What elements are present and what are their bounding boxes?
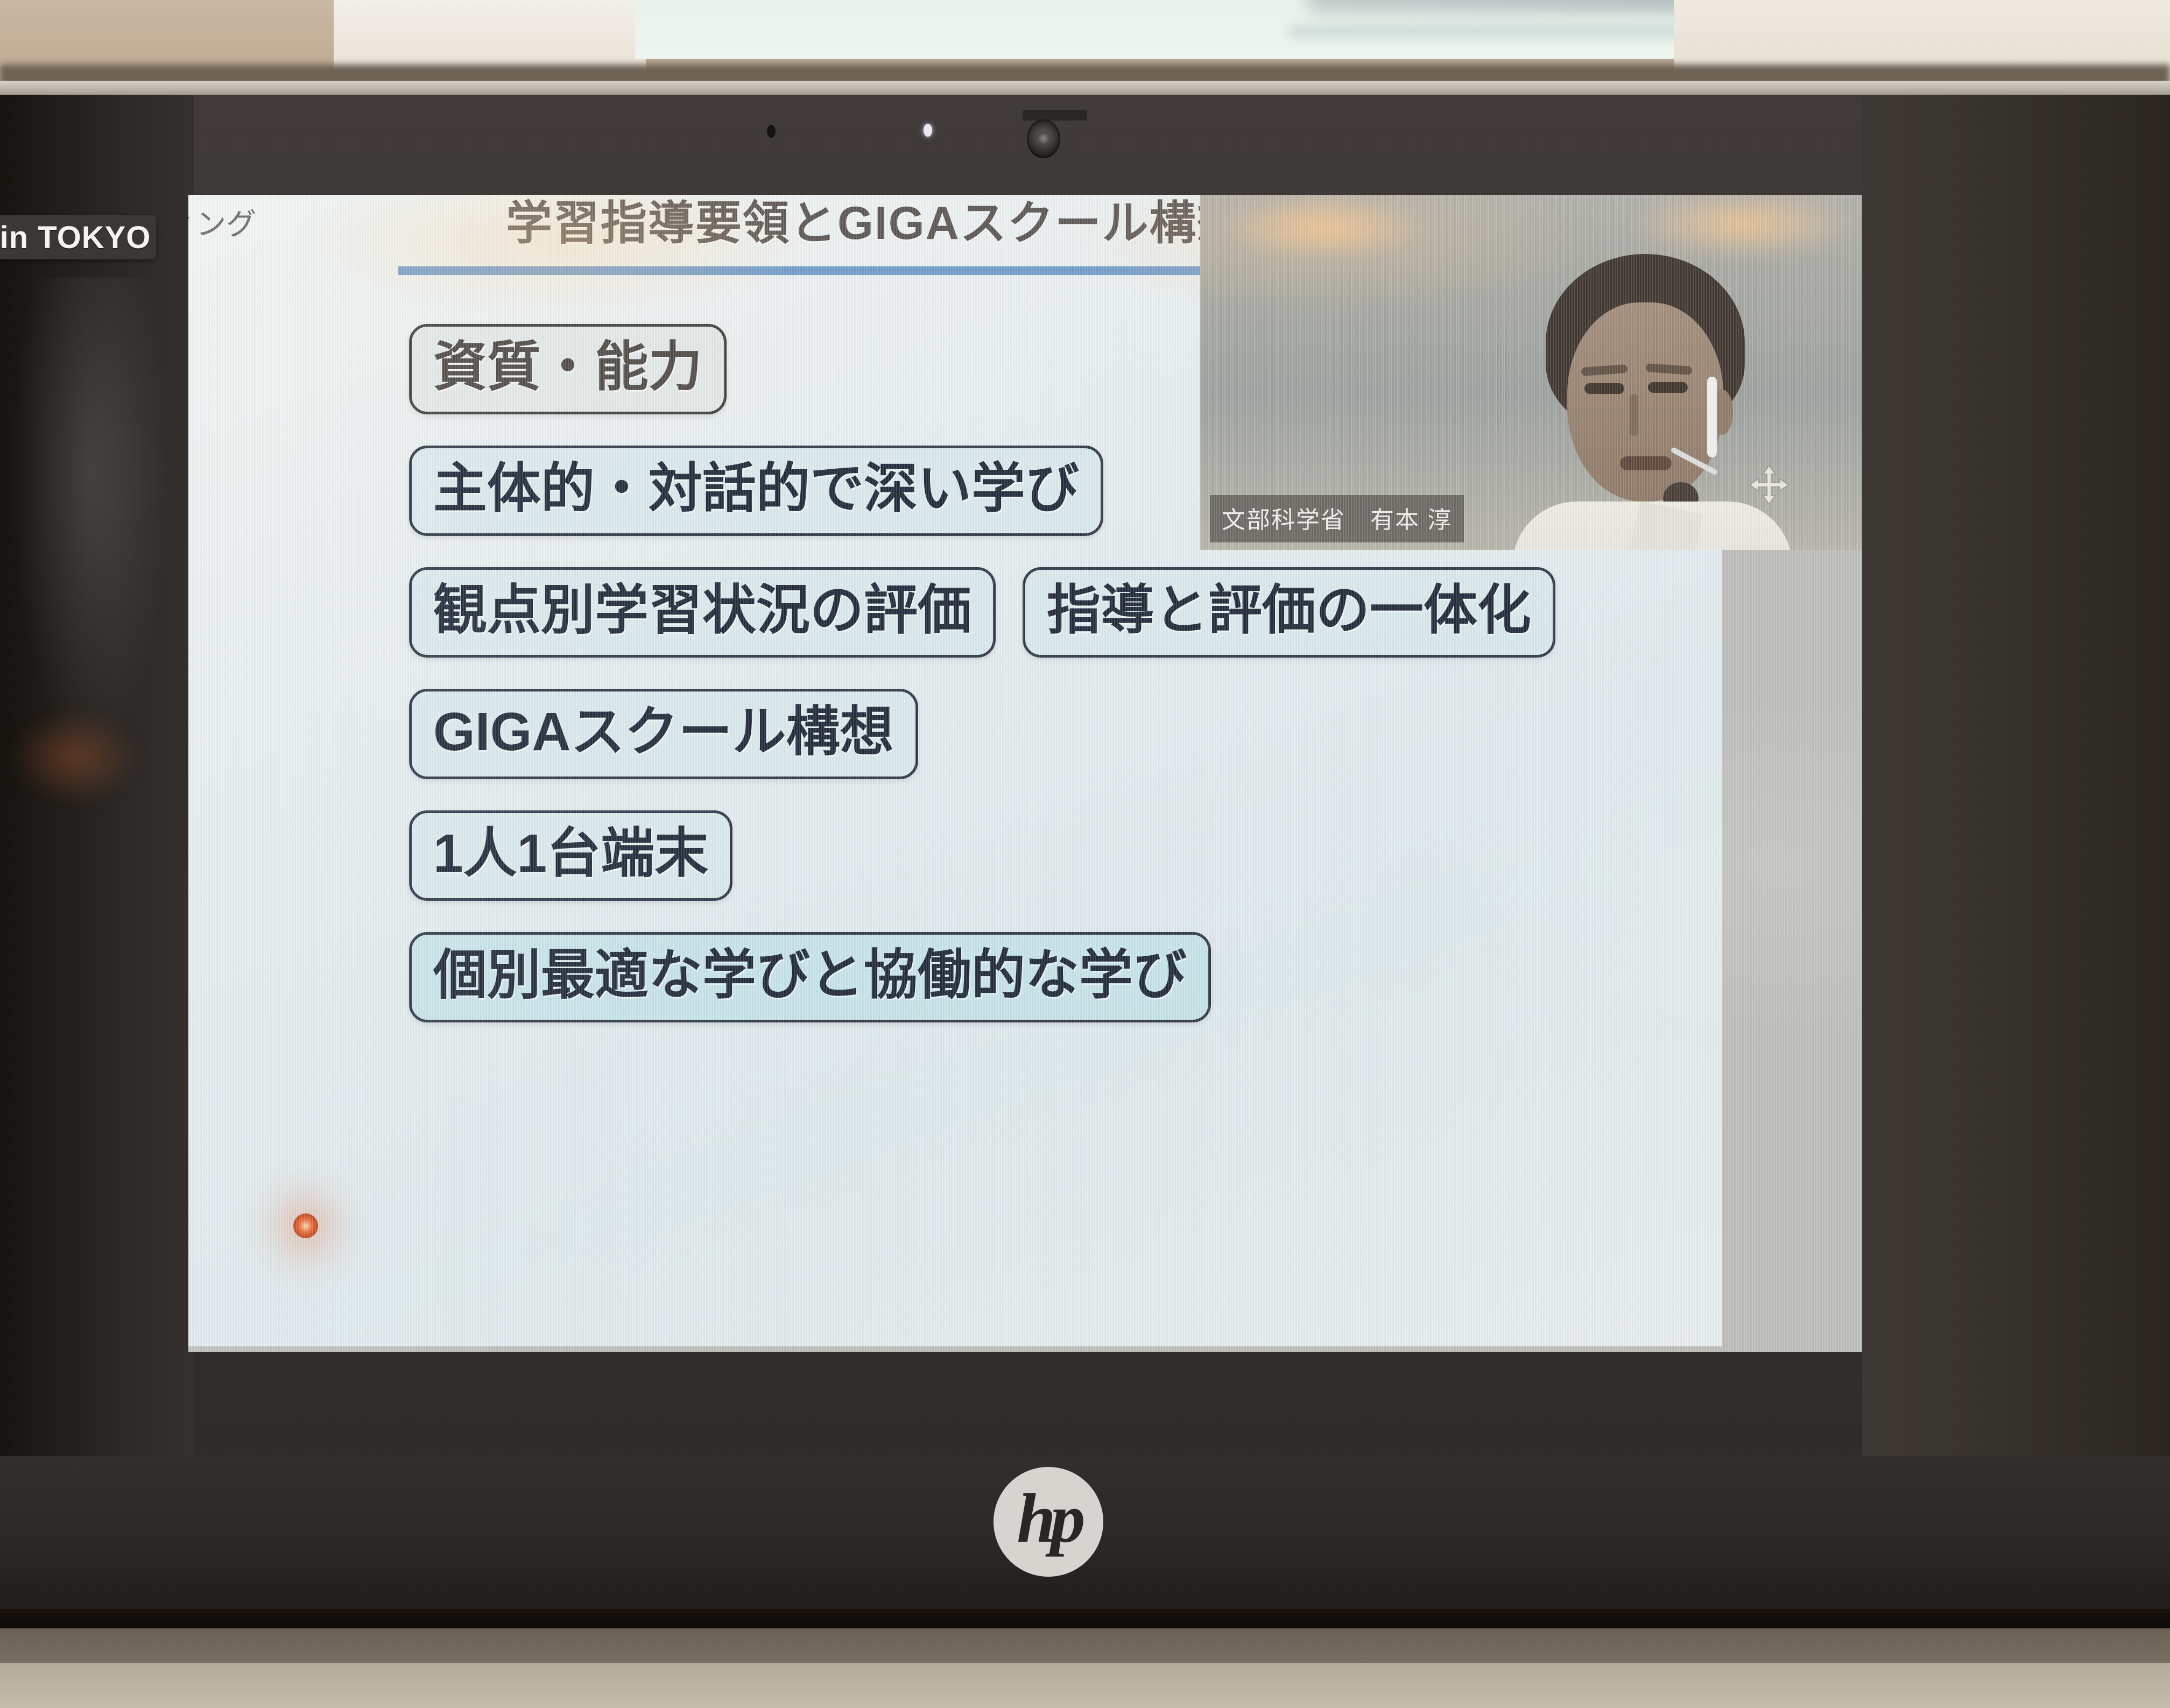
slide-box-giga-school[interactable]: GIGAスクール構想 xyxy=(409,689,918,779)
video-ceiling-light-right xyxy=(1631,195,1857,259)
bezel-right-shading xyxy=(1862,95,2170,1456)
avatar-eye-left xyxy=(1584,383,1624,394)
webcam-indicator-led xyxy=(924,124,932,137)
desk-front-edge xyxy=(0,1663,2170,1708)
avatar-face xyxy=(1567,302,1723,502)
video-ceiling-light-left xyxy=(1222,195,1426,259)
avatar-nose xyxy=(1630,394,1638,436)
laptop-sticker: in TOKYO xyxy=(0,215,156,259)
webcam-notch xyxy=(1023,110,1087,121)
video-participant-tile[interactable]: 文部科学省 有本 淳 xyxy=(1200,195,1862,550)
move-cursor-icon[interactable] xyxy=(1748,464,1790,506)
headset-icon xyxy=(1707,377,1717,457)
bezel-left-shading xyxy=(0,95,194,1456)
laptop-base-edge xyxy=(0,1609,2170,1631)
laptop-screen[interactable]: 学習指導要領とGIGAスクール構想の関係 資質・能力 主体的・対話的で深い学び … xyxy=(188,195,1862,1352)
webcam-icon xyxy=(1027,119,1060,158)
slide-row: 個別最適な学びと協働的な学び xyxy=(409,932,1690,1022)
slide-box-one-device-per-student[interactable]: 1人1台端末 xyxy=(409,810,732,901)
laptop-lid-top-edge xyxy=(0,81,2170,95)
slide-box-shutaiteki-taiwateki[interactable]: 主体的・対話的で深い学び xyxy=(409,446,1103,536)
hp-logo-text: hp xyxy=(1017,1484,1080,1554)
avatar-eye-right xyxy=(1648,382,1688,393)
recording-led-reflection xyxy=(293,1213,318,1238)
slide-row: 1人1台端末 xyxy=(409,810,1690,901)
slide-row: GIGAスクール構想 xyxy=(409,689,1690,779)
desktop-edge-text: ーディング xyxy=(188,200,256,244)
participant-name-label: 文部科学省 有本 淳 xyxy=(1210,495,1464,542)
sticker-label: in TOKYO xyxy=(0,220,151,256)
bezel-left-gloss xyxy=(11,278,172,762)
hp-logo-icon: hp xyxy=(994,1467,1103,1577)
avatar-mouth xyxy=(1620,456,1672,470)
slide-box-shitsu-noryoku[interactable]: 資質・能力 xyxy=(409,324,727,414)
laptop: in TOKYO 学習指導要領とGIGAスクール構想の関係 資質・能力 主体的・… xyxy=(0,81,2170,1627)
microphone-hole-icon xyxy=(767,125,776,138)
bezel-left-warm-reflection xyxy=(11,708,140,805)
projection-screen xyxy=(635,0,1674,59)
participant-avatar xyxy=(1534,254,1760,550)
slide-box-kantenbetsu-hyoka[interactable]: 観点別学習状況の評価 xyxy=(409,567,996,658)
slide-box-kobetsu-saiteki-kyodoteki[interactable]: 個別最適な学びと協働的な学び xyxy=(409,932,1211,1022)
slide-box-shido-hyoka-ittaika[interactable]: 指導と評価の一体化 xyxy=(1023,567,1555,658)
laptop-bottom-chassis: hp xyxy=(0,1456,2170,1627)
slide-row: 観点別学習状況の評価 指導と評価の一体化 xyxy=(409,567,1690,658)
